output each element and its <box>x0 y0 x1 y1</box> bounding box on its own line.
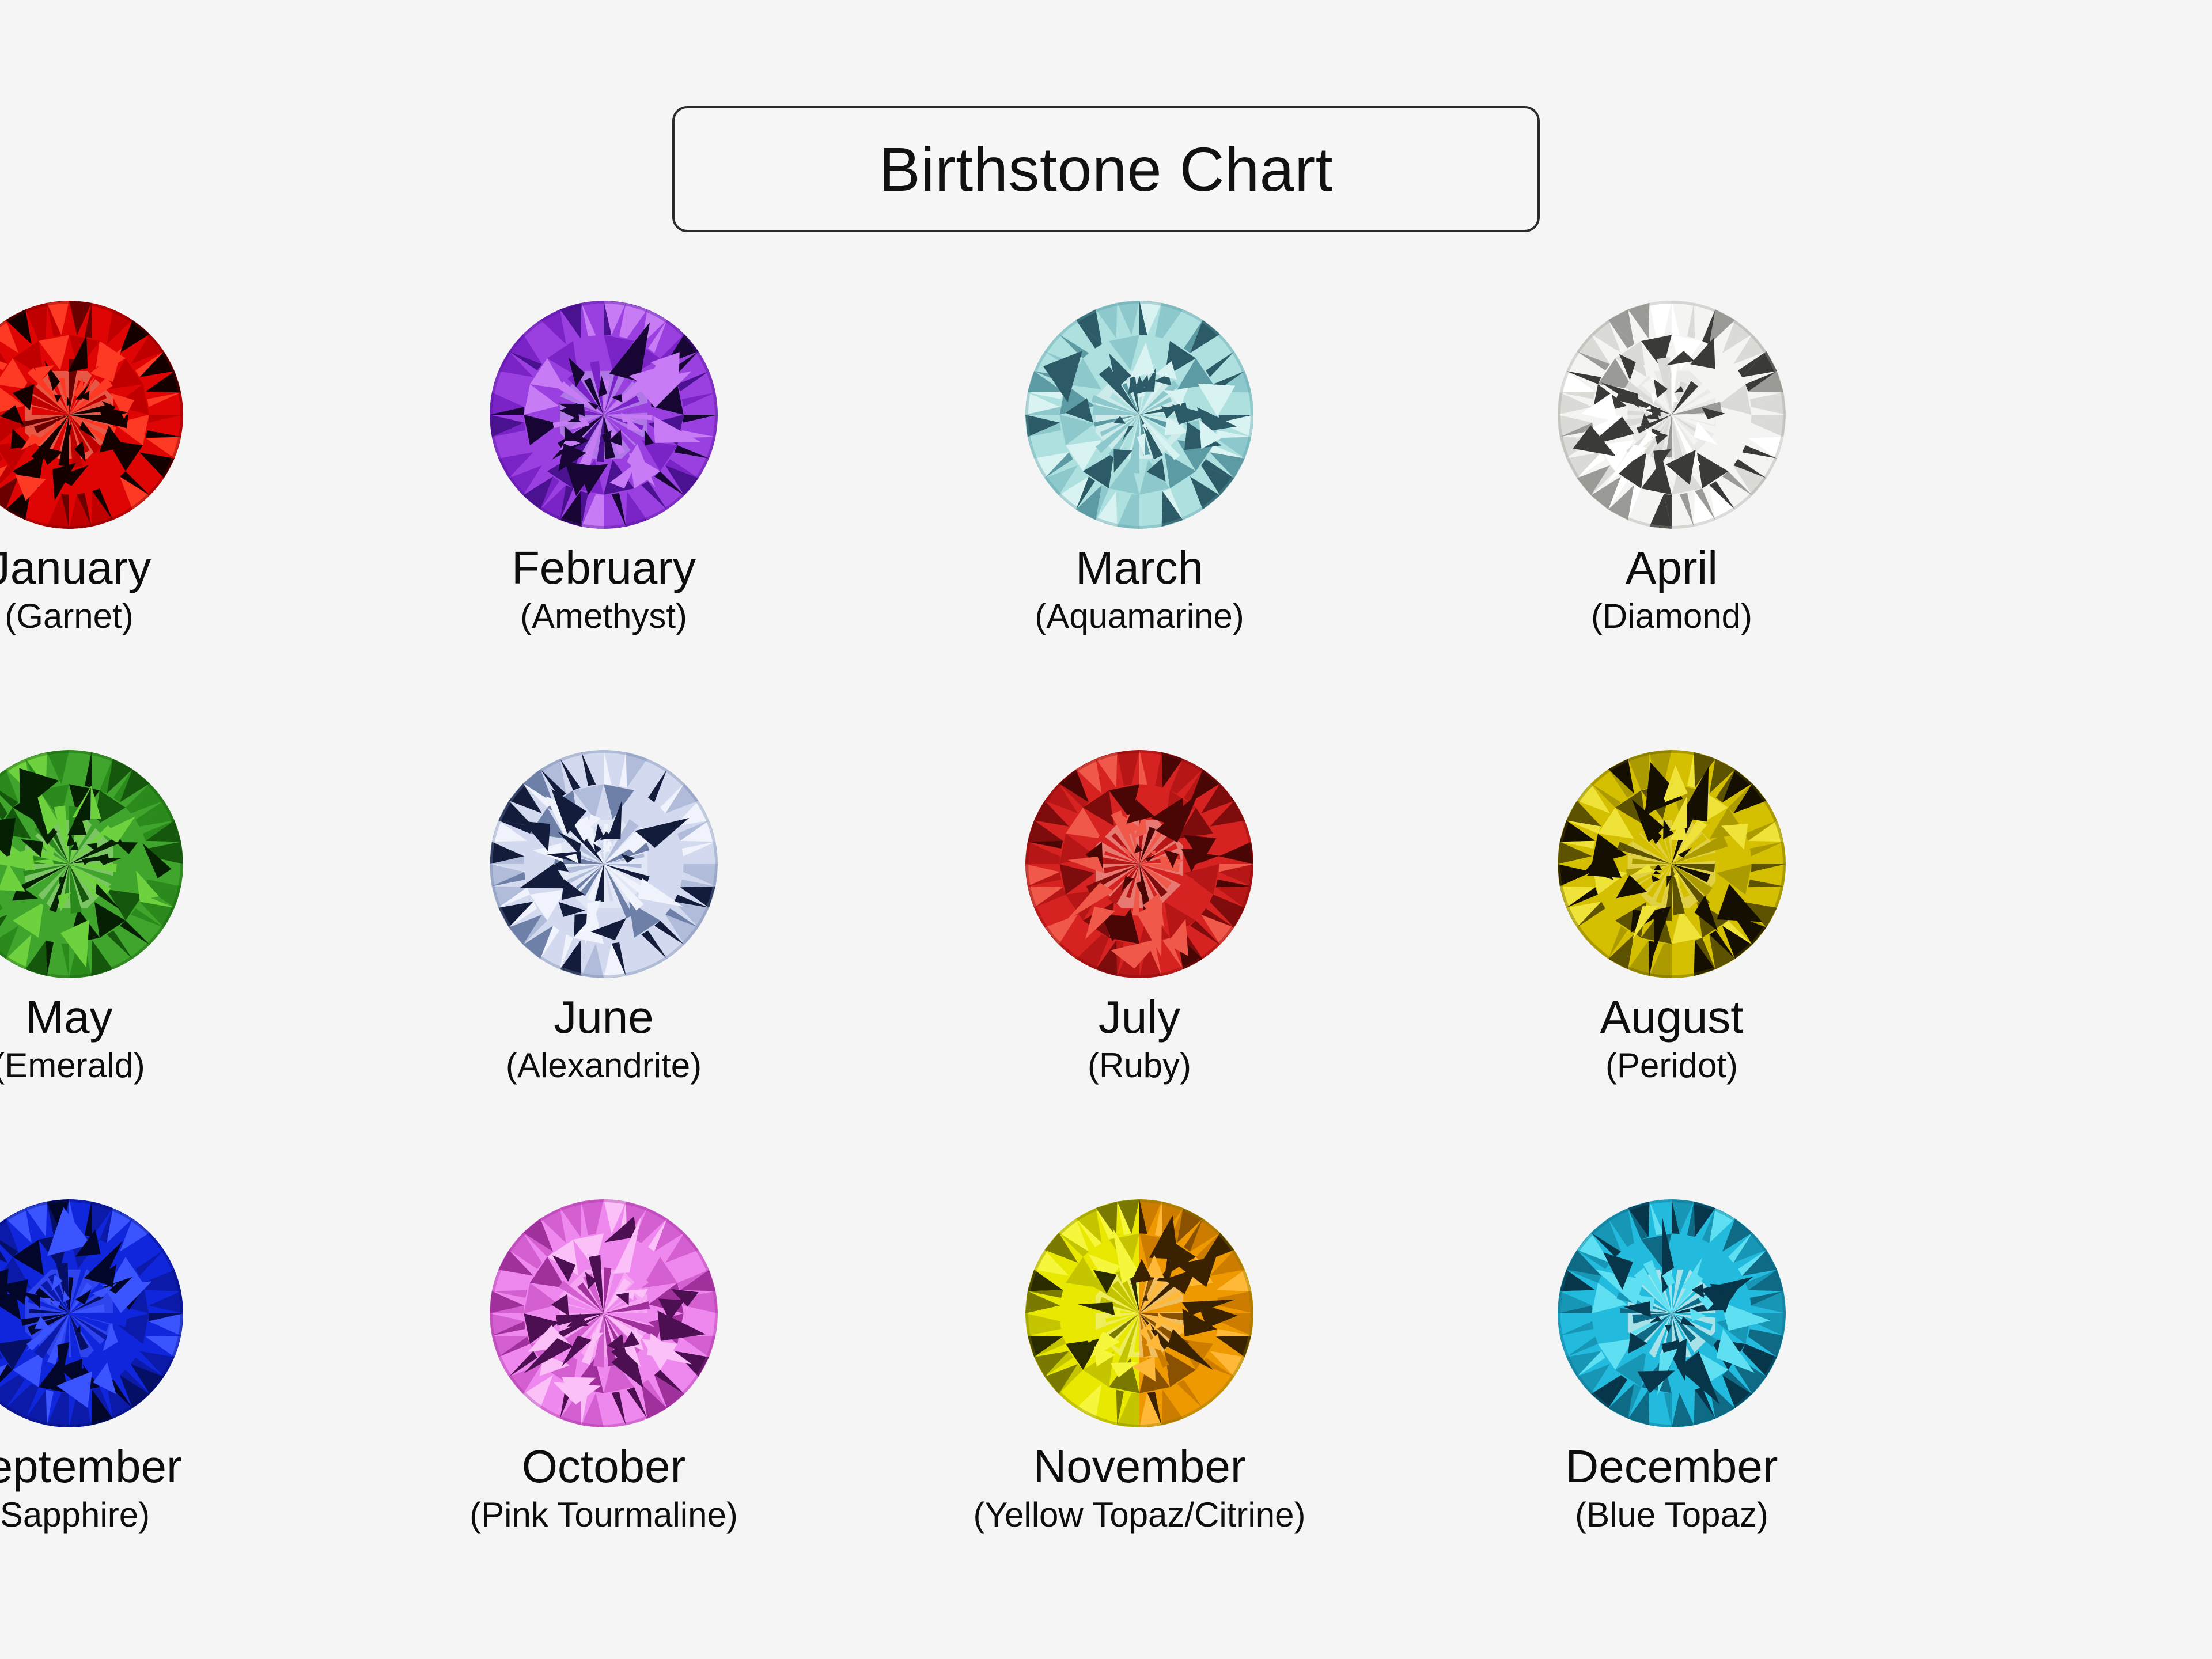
stone-label: (Aquamarine) <box>1035 599 1244 634</box>
stone-label: (Peridot) <box>1605 1048 1738 1083</box>
round-brilliant-gem-icon <box>1556 1198 1787 1429</box>
gem-svg <box>1556 1198 1787 1429</box>
birthstone-grid: January(Garnet)February(Amethyst)March(A… <box>0 300 2212 1647</box>
gem-svg <box>1024 300 1255 530</box>
birthstone-cell-july[interactable]: July(Ruby) <box>863 749 1416 1198</box>
round-brilliant-gem-icon <box>0 300 184 530</box>
month-label: February <box>512 545 696 591</box>
page-title-box: Birthstone Chart <box>672 106 1540 232</box>
gem-svg <box>1024 749 1255 979</box>
month-label: July <box>1099 994 1180 1040</box>
stone-label: (Emerald) <box>0 1048 145 1083</box>
month-label: November <box>1033 1444 1245 1490</box>
birthstone-cell-december[interactable]: December(Blue Topaz) <box>1395 1198 1948 1647</box>
month-label: April <box>1626 545 1718 591</box>
month-label: January <box>0 545 151 591</box>
birthstone-cell-november[interactable]: November(Yellow Topaz/Citrine) <box>863 1198 1416 1647</box>
month-label: March <box>1075 545 1203 591</box>
stone-label: (Ruby) <box>1088 1048 1191 1083</box>
round-brilliant-gem-icon <box>488 1198 719 1429</box>
stone-label: (Pink Tourmaline) <box>469 1498 738 1532</box>
stone-label: (Amethyst) <box>520 599 687 634</box>
round-brilliant-gem-icon <box>0 1198 184 1429</box>
stone-label: (Garnet) <box>5 599 133 634</box>
birthstone-cell-march[interactable]: March(Aquamarine) <box>863 300 1416 749</box>
gem-svg <box>1556 300 1787 530</box>
gem-svg <box>0 1198 184 1429</box>
round-brilliant-gem-icon <box>488 300 719 530</box>
gem-svg <box>488 300 719 530</box>
birthstone-cell-february[interactable]: February(Amethyst) <box>327 300 880 749</box>
stone-label: (Yellow Topaz/Citrine) <box>974 1498 1306 1532</box>
birthstone-cell-april[interactable]: April(Diamond) <box>1395 300 1948 749</box>
birthstone-cell-september[interactable]: September(Sapphire) <box>0 1198 346 1647</box>
stone-label: (Diamond) <box>1591 599 1752 634</box>
round-brilliant-gem-split-icon <box>1024 1198 1255 1429</box>
month-label: December <box>1565 1444 1778 1490</box>
gem-svg <box>0 749 184 979</box>
month-label: June <box>554 994 653 1040</box>
gem-svg <box>488 749 719 979</box>
stone-label: (Sapphire) <box>0 1498 150 1532</box>
round-brilliant-gem-icon <box>1556 749 1787 979</box>
round-brilliant-gem-icon <box>1556 300 1787 530</box>
birthstone-cell-june[interactable]: June(Alexandrite) <box>327 749 880 1198</box>
gem-svg <box>1556 749 1787 979</box>
month-label: September <box>0 1444 182 1490</box>
page-title: Birthstone Chart <box>879 138 1333 200</box>
round-brilliant-gem-icon <box>488 749 719 979</box>
gem-svg <box>1024 1198 1255 1429</box>
gem-svg <box>488 1198 719 1429</box>
birthstone-cell-january[interactable]: January(Garnet) <box>0 300 346 749</box>
birthstone-cell-august[interactable]: August(Peridot) <box>1395 749 1948 1198</box>
round-brilliant-gem-icon <box>0 749 184 979</box>
round-brilliant-gem-icon <box>1024 749 1255 979</box>
month-label: October <box>522 1444 686 1490</box>
round-brilliant-gem-icon <box>1024 300 1255 530</box>
birthstone-cell-may[interactable]: May(Emerald) <box>0 749 346 1198</box>
month-label: August <box>1600 994 1743 1040</box>
gem-svg <box>0 300 184 530</box>
month-label: May <box>25 994 112 1040</box>
stone-label: (Blue Topaz) <box>1575 1498 1768 1532</box>
birthstone-chart-page: Birthstone Chart January(Garnet)February… <box>0 0 2212 1659</box>
birthstone-cell-october[interactable]: October(Pink Tourmaline) <box>327 1198 880 1647</box>
stone-label: (Alexandrite) <box>506 1048 702 1083</box>
